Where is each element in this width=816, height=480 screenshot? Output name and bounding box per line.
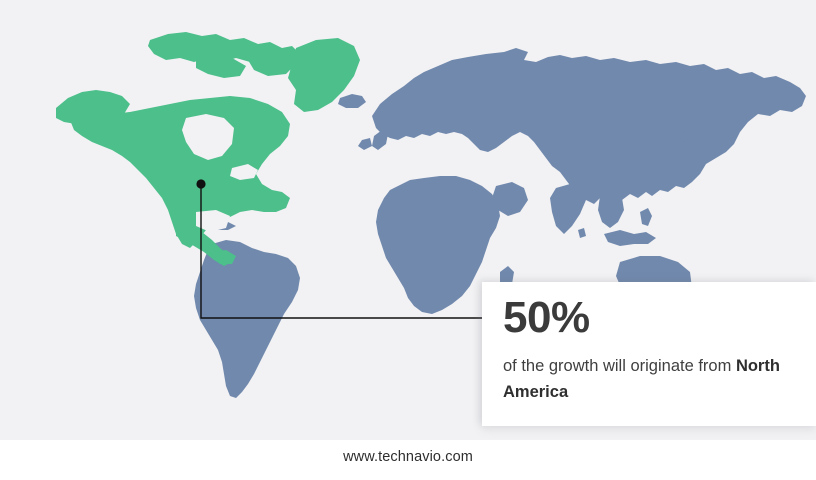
footer-url[interactable]: www.technavio.com [0, 449, 816, 465]
callout-card: 50% of the growth will originate from No… [482, 282, 816, 426]
callout-description-prefix: of the growth will originate from [503, 357, 736, 375]
callout-description: of the growth will originate from North … [503, 354, 816, 405]
infographic-canvas: 50% of the growth will originate from No… [0, 0, 816, 480]
callout-stat-value: 50% [503, 296, 816, 340]
footer-band: www.technavio.com [0, 440, 816, 480]
